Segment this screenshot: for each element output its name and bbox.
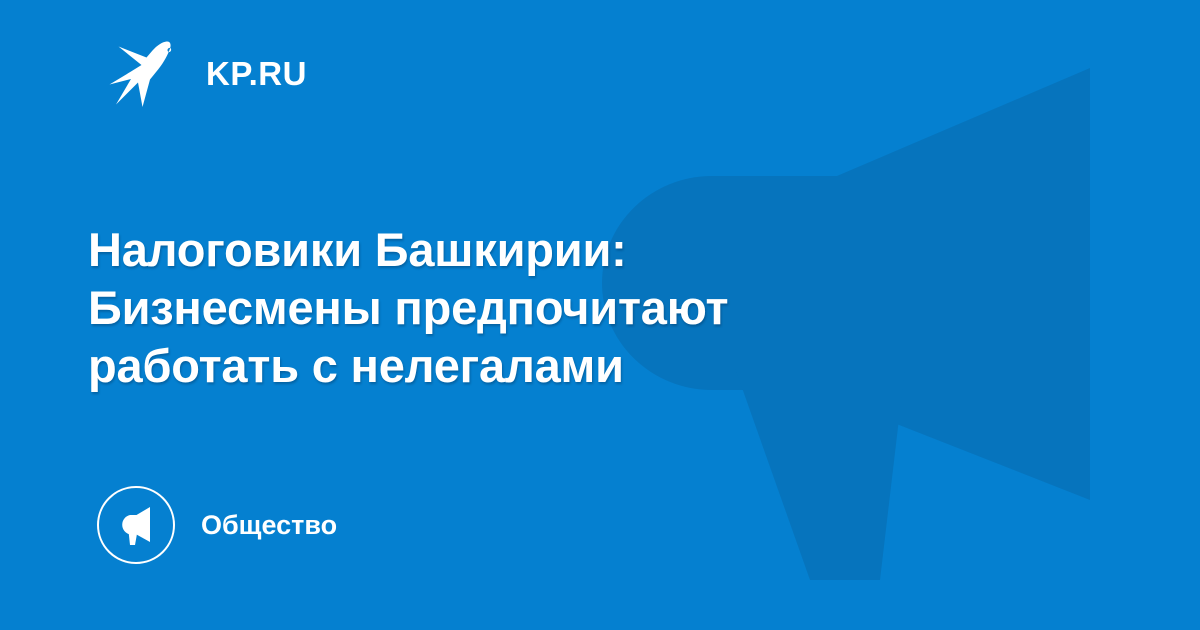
category-label: Общество [201, 512, 337, 539]
headline-line-2: Бизнесмены предпочитают [88, 279, 988, 337]
watermark-megaphone-handle [735, 368, 905, 580]
headline-line-3: работать с нелегалами [88, 337, 988, 395]
swallow-bird-icon [108, 38, 184, 108]
megaphone-icon [114, 504, 158, 546]
share-card: KP.RU Налоговики Башкирии: Бизнесмены пр… [0, 0, 1200, 630]
category-icon-circle [97, 486, 175, 564]
category-badge[interactable]: Общество [97, 483, 337, 567]
page-title: Налоговики Башкирии: Бизнесмены предпочи… [88, 221, 988, 395]
brand-logo[interactable]: KP.RU [108, 36, 307, 110]
brand-name: KP.RU [206, 57, 307, 90]
headline-line-1: Налоговики Башкирии: [88, 221, 988, 279]
